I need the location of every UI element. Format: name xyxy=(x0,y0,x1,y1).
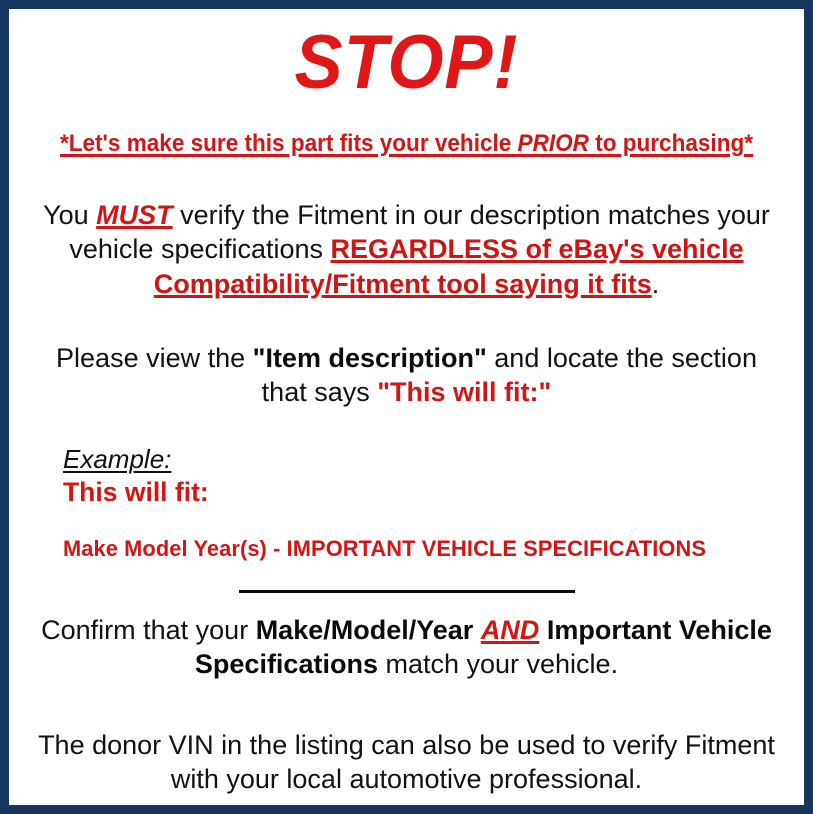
example-block: Example: This will fit: Make Model Year(… xyxy=(17,445,796,562)
confirm-paragraph-seg-1: Confirm that your xyxy=(41,615,256,645)
notice-content: STOP! *Let's make sure this part fits yo… xyxy=(9,9,804,805)
view-paragraph-seg-1: Please view the xyxy=(56,343,253,373)
confirm-paragraph-seg-2: match your vehicle. xyxy=(378,649,618,679)
this-will-fit-emphasis: "This will fit:" xyxy=(377,377,551,407)
divider-wrapper xyxy=(17,590,796,593)
donor-vin-paragraph: The donor VIN in the listing can also be… xyxy=(17,728,796,797)
subheadline-prior-emphasis: PRIOR xyxy=(518,130,589,157)
example-spec-line: Make Model Year(s) - IMPORTANT VEHICLE S… xyxy=(63,535,774,562)
subheadline-text-before: *Let's make sure this part fits your veh… xyxy=(60,130,518,157)
example-this-will-fit: This will fit: xyxy=(63,477,796,509)
subheadline-text-after: to purchasing* xyxy=(589,130,753,157)
fitment-notice-card: STOP! *Let's make sure this part fits yo… xyxy=(0,0,813,814)
must-paragraph-seg-3: . xyxy=(652,269,660,299)
confirm-paragraph: Confirm that your Make/Model/Year AND Im… xyxy=(17,613,796,682)
must-verify-paragraph: You MUST verify the Fitment in our descr… xyxy=(17,198,796,301)
page-title: STOP! xyxy=(36,25,776,101)
must-paragraph-seg-1: You xyxy=(43,200,96,230)
section-divider xyxy=(239,590,575,593)
example-label: Example: xyxy=(63,445,171,475)
and-emphasis: AND xyxy=(481,615,540,645)
item-description-emphasis: "Item description" xyxy=(253,343,487,373)
example-label-row: Example: xyxy=(63,445,796,475)
view-description-paragraph: Please view the "Item description" and l… xyxy=(17,341,796,410)
subheadline: *Let's make sure this part fits your veh… xyxy=(48,131,765,158)
must-emphasis: MUST xyxy=(96,200,173,230)
make-model-year-emphasis: Make/Model/Year xyxy=(256,615,474,645)
